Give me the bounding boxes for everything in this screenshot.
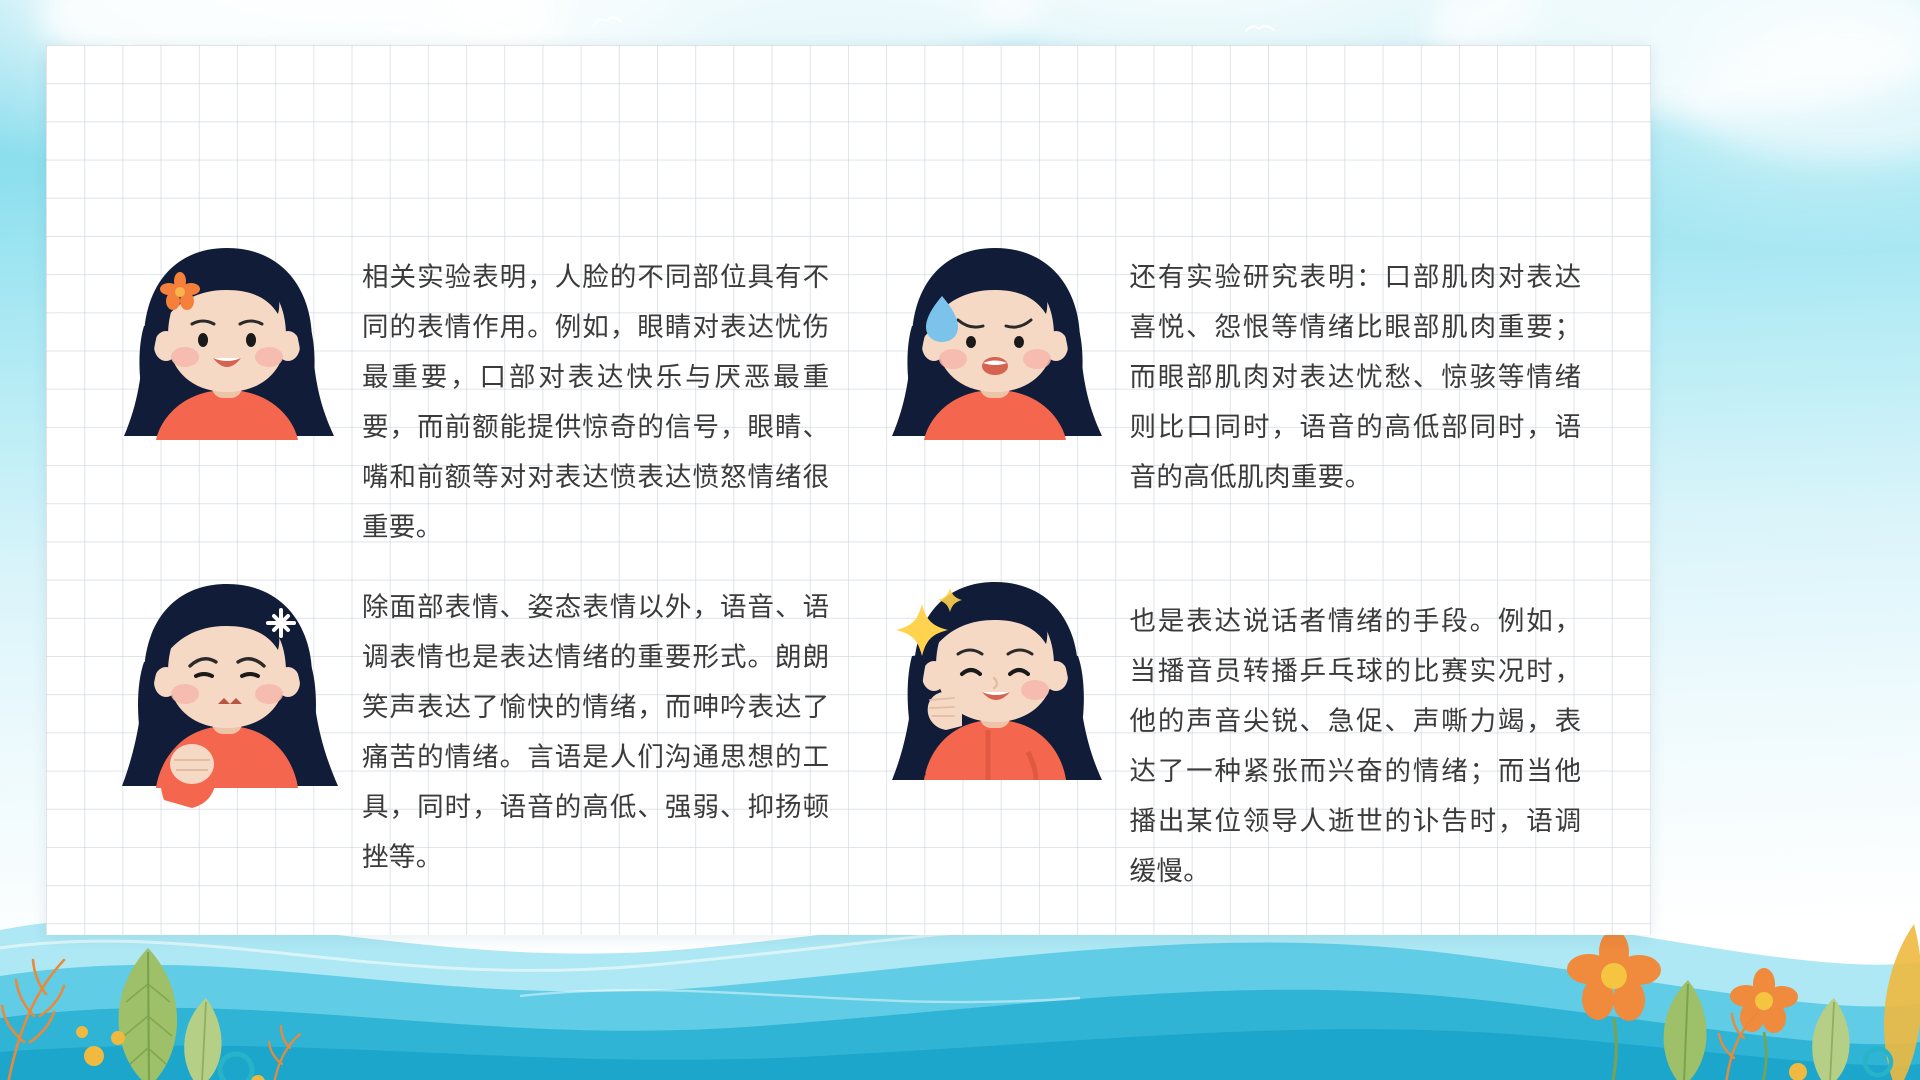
illustration-girl-angry-fist [98, 574, 356, 809]
content-grid: 相关实验表明，人脸的不同部位具有不同的表情作用。例如，眼睛对表达忧伤最重要，口部… [46, 45, 1651, 935]
panel-text-bottom-right: 也是表达说话者情绪的手段。例如，当播音员转播乒乓球的比赛实况时，他的声音尖锐、急… [1130, 592, 1582, 896]
panel-top-right: 还有实验研究表明：口部肌肉对表达喜悦、怨恨等情绪比眼部肌肉重要；而眼部肌肉对表达… [830, 240, 1596, 552]
panel-bottom-left: 除面部表情、姿态表情以外，语音、语调表情也是表达情绪的重要形式。朗朗笑声表达了愉… [64, 552, 830, 896]
slide-root: 相关实验表明，人脸的不同部位具有不同的表情作用。例如，眼睛对表达忧伤最重要，口部… [0, 0, 1920, 1080]
panel-text-bottom-left: 除面部表情、姿态表情以外，语音、语调表情也是表达情绪的重要形式。朗朗笑声表达了愉… [362, 578, 830, 882]
illustration-girl-happy-flower [98, 240, 356, 455]
illustration-girl-shy-sparkle [866, 574, 1124, 799]
bird-icon [238, 30, 274, 46]
grid-paper-card: 相关实验表明，人脸的不同部位具有不同的表情作用。例如，眼睛对表达忧伤最重要，口部… [46, 45, 1651, 935]
illustration-girl-worried-sweatdrop [866, 240, 1124, 455]
panel-top-left: 相关实验表明，人脸的不同部位具有不同的表情作用。例如，眼睛对表达忧伤最重要，口部… [64, 240, 830, 552]
panel-bottom-right: 也是表达说话者情绪的手段。例如，当播音员转播乒乓球的比赛实况时，他的声音尖锐、急… [830, 552, 1596, 896]
panel-text-top-right: 还有实验研究表明：口部肌肉对表达喜悦、怨恨等情绪比眼部肌肉重要；而眼部肌肉对表达… [1130, 248, 1582, 502]
panel-text-top-left: 相关实验表明，人脸的不同部位具有不同的表情作用。例如，眼睛对表达忧伤最重要，口部… [362, 248, 830, 552]
bird-icon [1245, 22, 1275, 35]
bird-icon [378, 23, 413, 40]
